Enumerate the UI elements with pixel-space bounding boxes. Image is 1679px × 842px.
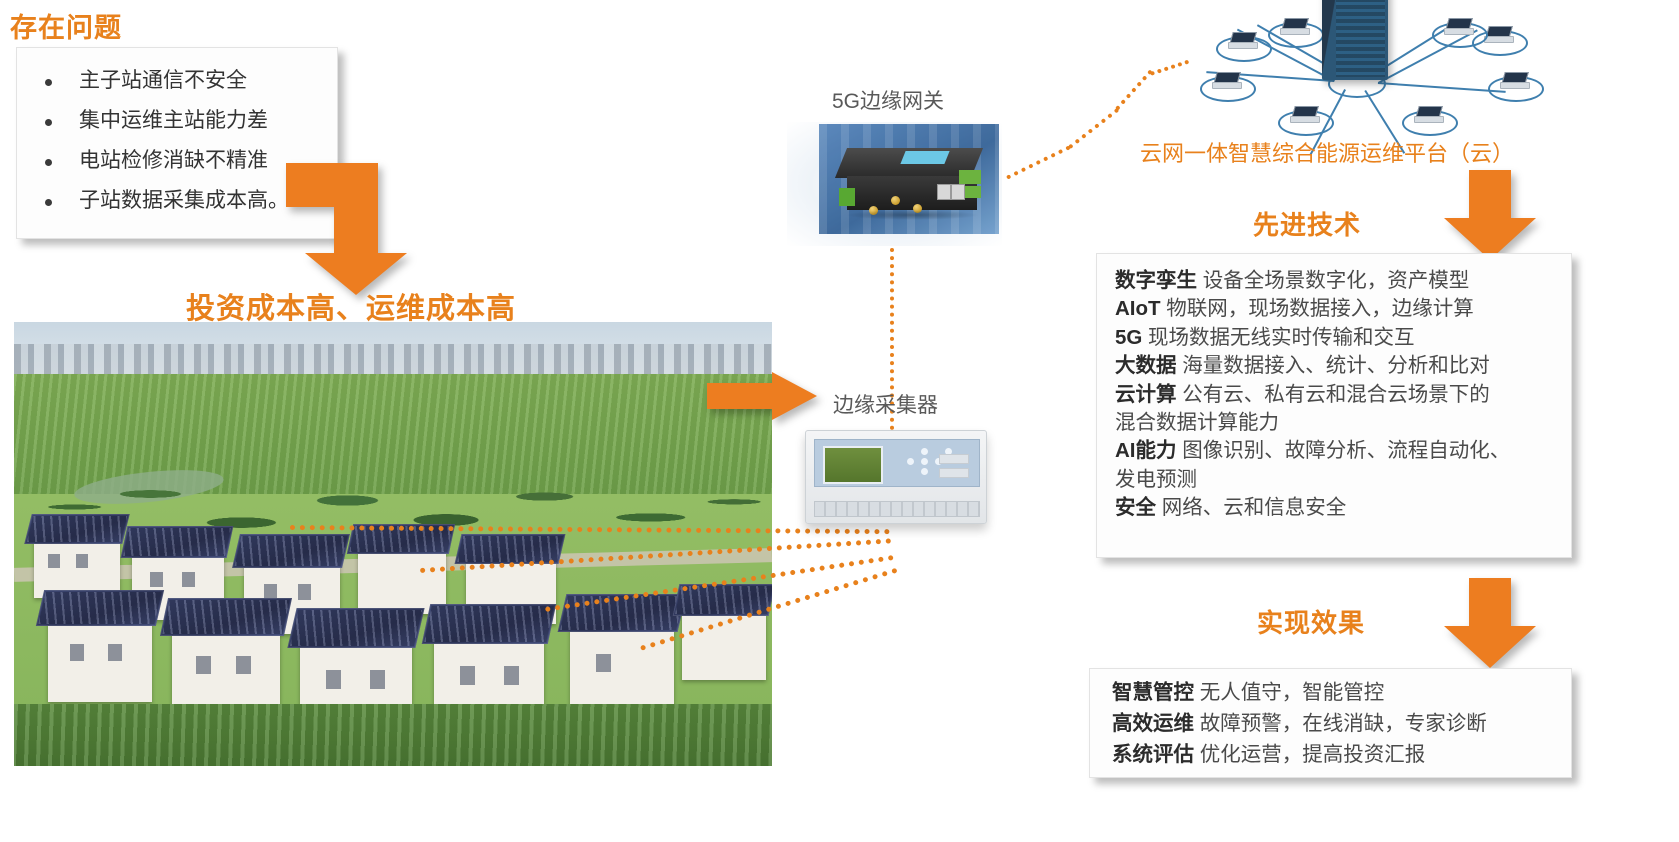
effect-desc: 无人值守，智能管控 <box>1194 681 1384 704</box>
tech-desc: 混合数据计算能力 <box>1115 411 1279 434</box>
dotted-connector-icon <box>1006 145 1071 179</box>
tech-desc: 物联网，现场数据接入，边缘计算 <box>1161 297 1474 320</box>
tech-lines: 数字孪生 设备全场景数字化，资产模型 AIoT 物联网，现场数据接入，边缘计算 … <box>1097 254 1571 523</box>
gateway-caption: 5G边缘网关 <box>832 85 944 115</box>
list-item: 主子站通信不安全 <box>17 70 337 91</box>
list-item: 集中运维主站能力差 <box>17 110 337 131</box>
tech-line: 云计算 公有云、私有云和混合云场景下的 <box>1115 381 1571 409</box>
effect-term: 系统评估 <box>1112 743 1194 766</box>
tech-desc: 设备全场景数字化，资产模型 <box>1197 269 1469 292</box>
effect-term: 高效运维 <box>1112 712 1194 735</box>
tech-desc: 图像识别、故障分析、流程自动化、 <box>1177 439 1511 462</box>
effect-desc: 优化运营，提高投资汇报 <box>1194 743 1425 766</box>
tech-term: AIoT <box>1115 297 1161 320</box>
effect-line: 高效运维 故障预警，在线消缺，专家诊断 <box>1112 709 1571 740</box>
aerial-village-photovoltaic-photo <box>14 322 772 766</box>
tech-line: 混合数据计算能力 <box>1115 409 1571 437</box>
tech-term: 安全 <box>1115 496 1156 519</box>
tech-desc: 现场数据无线实时传输和交互 <box>1142 326 1414 349</box>
arrow-down-icon <box>1444 170 1536 262</box>
tech-desc: 发电预测 <box>1115 468 1197 491</box>
tech-term: 数字孪生 <box>1115 269 1197 292</box>
tech-panel: 数字孪生 设备全场景数字化，资产模型 AIoT 物联网，现场数据接入，边缘计算 … <box>1096 253 1572 558</box>
dotted-connector-icon <box>1068 108 1119 149</box>
collector-caption: 边缘采集器 <box>833 389 938 419</box>
tech-line: AIoT 物联网，现场数据接入，边缘计算 <box>1115 295 1571 323</box>
tech-desc: 海量数据接入、统计、分析和比对 <box>1177 354 1490 377</box>
dotted-connector-icon <box>1115 69 1153 110</box>
effect-title: 实现效果 <box>1257 603 1365 640</box>
tech-line: 发电预测 <box>1115 466 1571 494</box>
effect-panel: 智慧管控 无人值守，智能管控 高效运维 故障预警，在线消缺，专家诊断 系统评估 … <box>1089 668 1572 778</box>
cost-headline: 投资成本高、运维成本高 <box>186 285 516 327</box>
effect-lines: 智慧管控 无人值守，智能管控 高效运维 故障预警，在线消缺，专家诊断 系统评估 … <box>1090 669 1571 770</box>
tech-line: 安全 网络、云和信息安全 <box>1115 494 1571 522</box>
problems-title: 存在问题 <box>10 6 122 45</box>
tech-line: 数字孪生 设备全场景数字化，资产模型 <box>1115 267 1571 295</box>
edge-collector-image <box>805 430 987 524</box>
tech-term: 5G <box>1115 326 1142 349</box>
tech-line: 大数据 海量数据接入、统计、分析和比对 <box>1115 352 1571 380</box>
tech-desc: 公有云、私有云和混合云场景下的 <box>1177 383 1490 406</box>
tech-term: 云计算 <box>1115 383 1177 406</box>
tech-line: AI能力 图像识别、故障分析、流程自动化、 <box>1115 437 1571 465</box>
effect-line: 智慧管控 无人值守，智能管控 <box>1112 678 1571 709</box>
arrow-down-icon <box>1444 578 1536 670</box>
arrow-right-icon <box>707 372 817 420</box>
tech-term: 大数据 <box>1115 354 1177 377</box>
effect-line: 系统评估 优化运营，提高投资汇报 <box>1112 740 1571 771</box>
tech-line: 5G 现场数据无线实时传输和交互 <box>1115 324 1571 352</box>
tech-desc: 网络、云和信息安全 <box>1156 496 1346 519</box>
tech-title: 先进技术 <box>1253 205 1361 242</box>
effect-desc: 故障预警，在线消缺，专家诊断 <box>1194 712 1487 735</box>
5g-edge-gateway-image <box>787 122 1002 246</box>
elbow-arrow-down-icon <box>286 163 414 295</box>
tech-term: AI能力 <box>1115 439 1177 462</box>
cloud-platform-caption: 云网一体智慧综合能源运维平台（云） <box>1140 136 1514 168</box>
effect-term: 智慧管控 <box>1112 681 1194 704</box>
cloud-network-diagram <box>1150 0 1550 132</box>
